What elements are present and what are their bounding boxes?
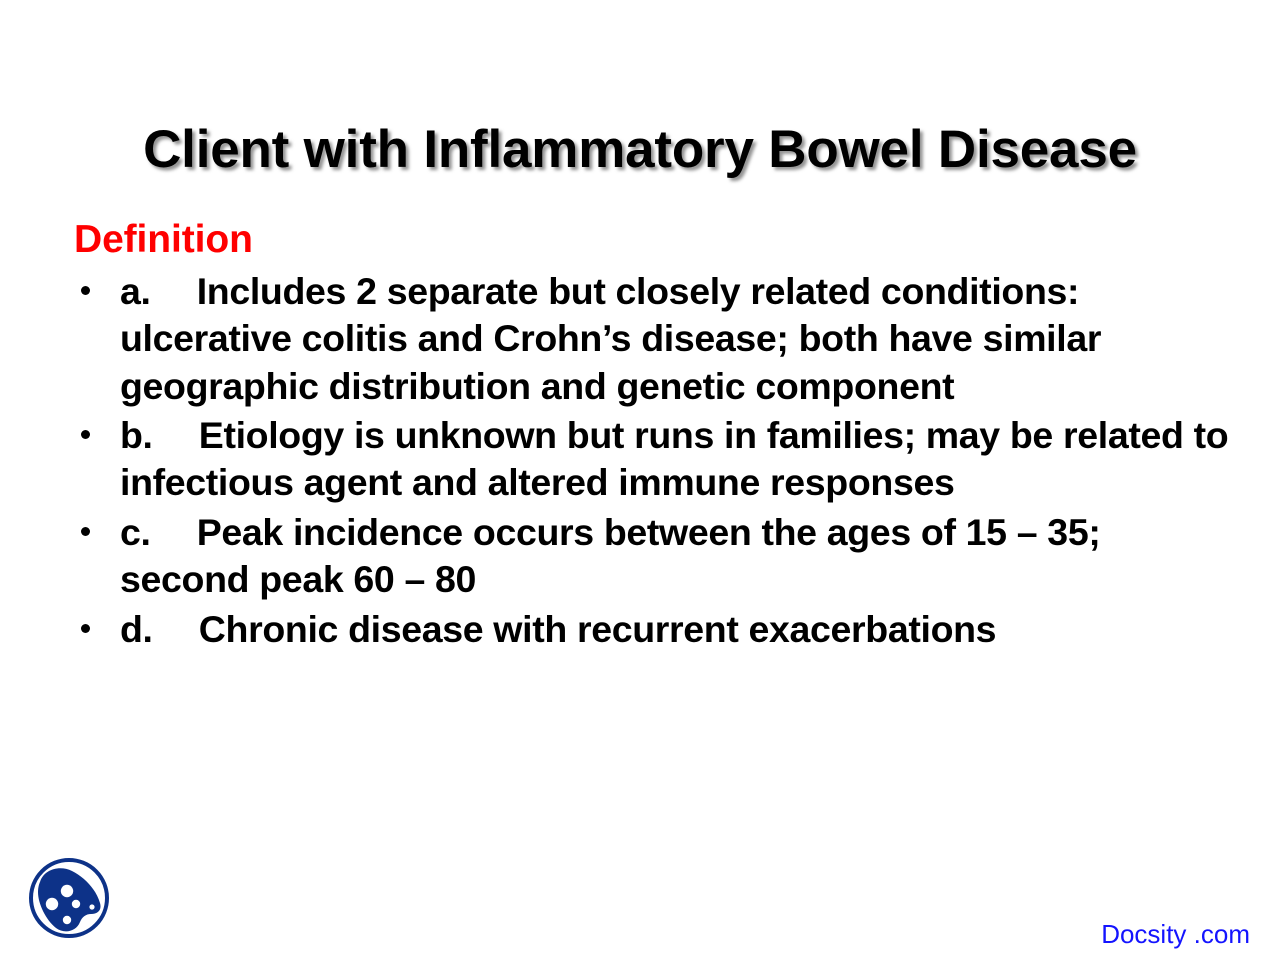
bullet-dot-icon [81,527,90,536]
list-item: d. Chronic disease with recurrent exacer… [74,606,1238,653]
list-item-letter: c. [120,511,151,553]
section-heading-definition: Definition [74,218,1238,262]
list-item-letter: b. [120,414,153,456]
docsity-watermark-text: Docsity .com [1101,919,1250,950]
list-item: a. Includes 2 separate but closely relat… [74,268,1238,410]
definition-bullet-list: a. Includes 2 separate but closely relat… [74,268,1238,654]
list-item-text: Chronic disease with recurrent exacerbat… [199,608,996,650]
list-item: b. Etiology is unknown but runs in famil… [74,412,1238,507]
list-item-text: Includes 2 separate but closely related … [120,270,1101,407]
list-item: c. Peak incidence occurs between the age… [74,509,1238,604]
list-item-letter: a. [120,270,151,312]
list-item-text: Peak incidence occurs between the ages o… [120,511,1100,600]
page-title: Client with Inflammatory Bowel Disease [0,122,1280,178]
docsity-logo-svg [26,852,114,944]
docsity-logo-icon [26,852,114,944]
bullet-dot-icon [81,430,90,439]
bullet-dot-icon [81,624,90,633]
list-item-letter: d. [120,608,153,650]
slide-body: Definition a. Includes 2 separate but cl… [74,218,1238,655]
bullet-dot-icon [81,286,90,295]
list-item-text: Etiology is unknown but runs in families… [120,414,1228,503]
presentation-slide: Client with Inflammatory Bowel Disease D… [0,0,1280,960]
